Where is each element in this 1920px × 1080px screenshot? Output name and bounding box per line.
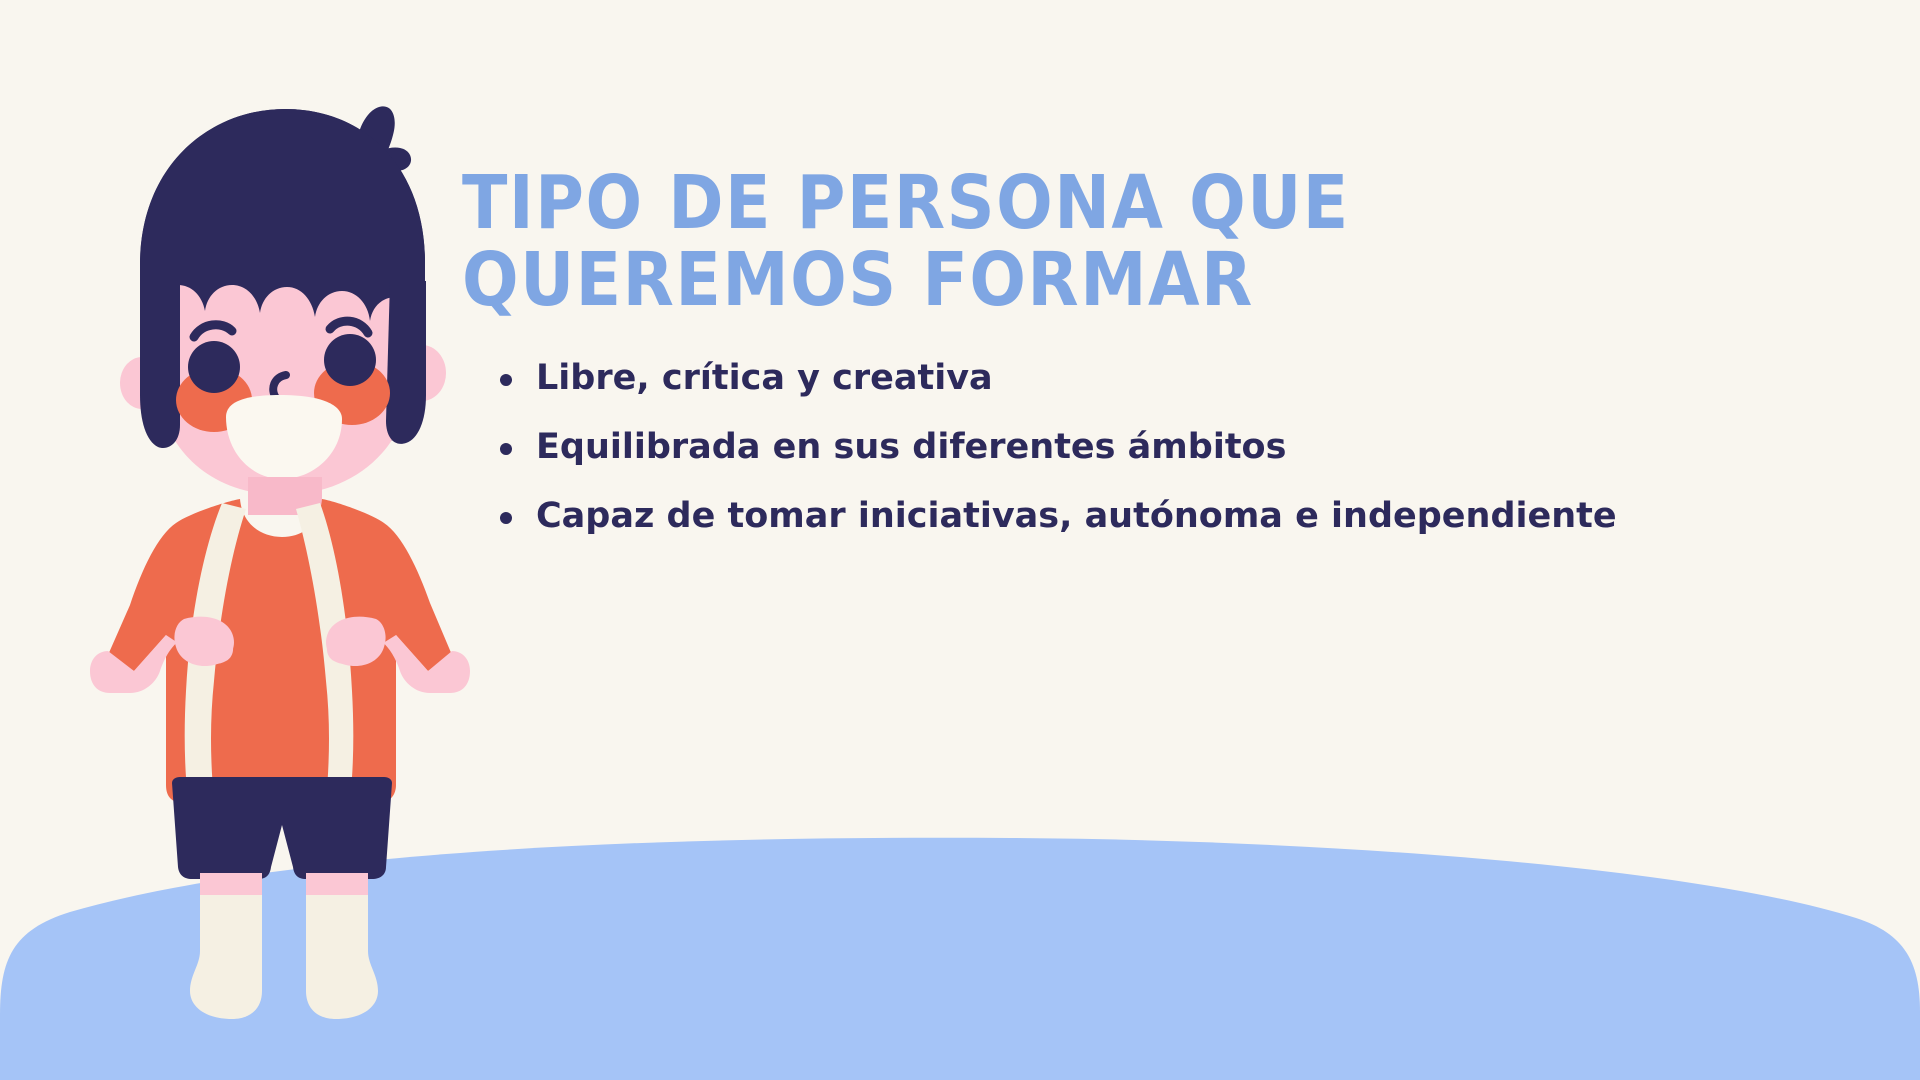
hair-side-right-shape	[386, 281, 426, 444]
list-item-label: Capaz de tomar iniciativas, autónoma e i…	[536, 496, 1617, 536]
text-content-block: TIPO DE PERSONA QUE QUEREMOS FORMAR Libr…	[462, 165, 1882, 568]
bullet-dot-icon	[500, 512, 512, 524]
bullet-list: Libre, crítica y creativa Equilibrada en…	[462, 361, 1882, 534]
hair-side-left-shape	[140, 285, 180, 448]
sock-shoe-left	[190, 895, 262, 1019]
slide-canvas: TIPO DE PERSONA QUE QUEREMOS FORMAR Libr…	[0, 0, 1920, 1080]
schoolchild-illustration	[80, 95, 480, 925]
list-item: Equilibrada en sus diferentes ámbitos	[500, 430, 1882, 465]
list-item-label: Libre, crítica y creativa	[536, 358, 993, 398]
eye-left	[188, 341, 240, 393]
eye-right	[324, 334, 376, 386]
list-item: Capaz de tomar iniciativas, autónoma e i…	[500, 499, 1882, 534]
sock-shoe-right	[306, 895, 378, 1019]
page-title: TIPO DE PERSONA QUE QUEREMOS FORMAR	[462, 165, 1882, 319]
page-title-line-2: QUEREMOS FORMAR	[462, 242, 1882, 319]
bullet-dot-icon	[500, 443, 512, 455]
page-title-line-1: TIPO DE PERSONA QUE	[462, 165, 1882, 242]
bullet-dot-icon	[500, 374, 512, 386]
schoolchild-feet	[80, 895, 480, 1080]
list-item: Libre, crítica y creativa	[500, 361, 1882, 396]
shorts-shape	[172, 777, 392, 879]
list-item-label: Equilibrada en sus diferentes ámbitos	[536, 427, 1286, 467]
